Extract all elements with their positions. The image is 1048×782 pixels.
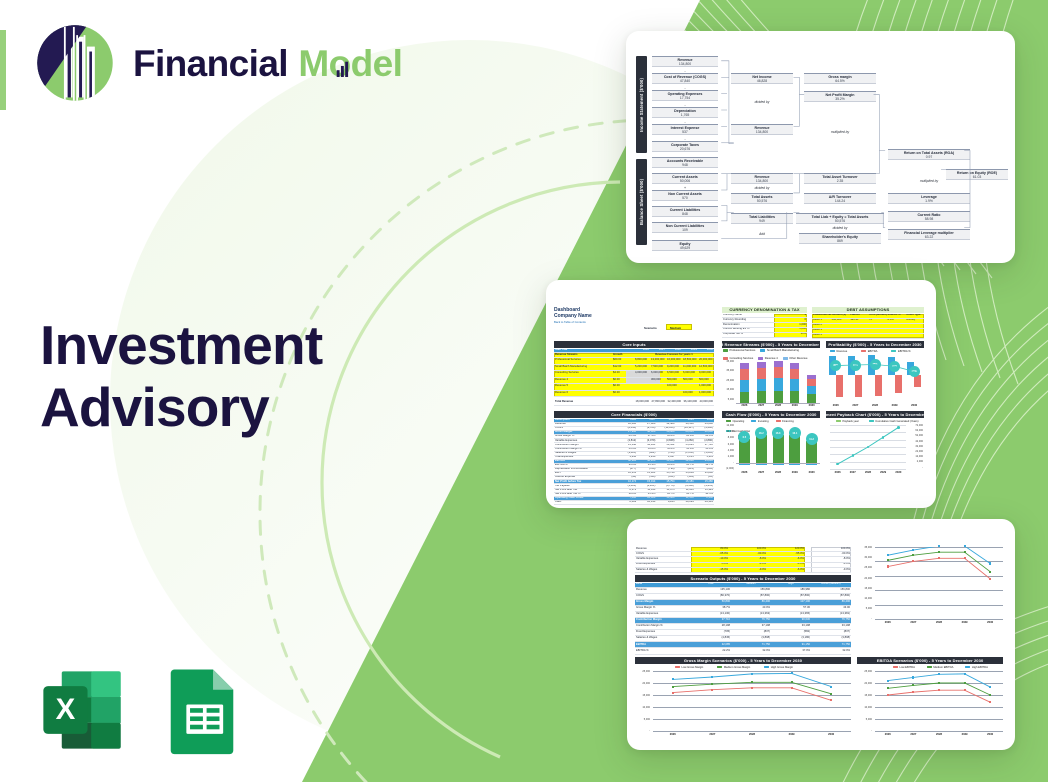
scenario-label: Scenario <box>644 326 657 330</box>
financial-model-logo-icon <box>34 22 116 104</box>
dp-box-total-liab-equity: Total Liab + Equity = Total Assets50,576 <box>796 213 884 224</box>
data-point <box>751 673 753 675</box>
data-point <box>791 681 793 683</box>
dp-box-current-ratio: Current Ratio58.98 <box>888 211 970 222</box>
dp-box-roe: Return on Equity (ROE)61.03 <box>946 169 1008 180</box>
table-row: EBITDA %22.2%32.0%37.0%32.0% <box>635 649 851 655</box>
investing-bar <box>739 463 750 465</box>
stacked-bar <box>774 361 783 403</box>
dp-box-current-assets: Current Assets50,006 <box>652 173 718 184</box>
ebitda-scenarios-legend: Low EBITDA Medium EBITDA High EBITDA <box>893 666 1003 669</box>
dupont-tree: Income Statement ($'000) Balance Sheet (… <box>636 56 1007 245</box>
data-point <box>830 699 832 701</box>
dp-box-cogs: Cost of Revenue (COGS)47,840 <box>652 73 718 84</box>
data-point <box>989 694 991 696</box>
revenue-scenarios-yaxis: 35,00030,00025,00020,00015,00010,0005,00… <box>857 547 872 621</box>
gross-margin-yaxis: 25,00020,00015,00010,0005,000- <box>635 671 650 733</box>
brand-word-model: Model <box>298 45 402 82</box>
dp-box-equity: Equity49,629 <box>652 240 718 251</box>
brand-wordmark: Financial Model <box>133 45 402 82</box>
dp-box-corporate-taxes: Corporate Taxes20,676 <box>652 141 718 152</box>
dashboard-company-name: Company Name <box>554 313 592 319</box>
investing-bar <box>806 463 817 465</box>
dashboard-sheet: Dashboard Company Name Back to Table of … <box>546 280 936 508</box>
dp-box-accounts-receivable: Accounts Receivable948 <box>652 157 718 168</box>
data-point <box>672 686 674 688</box>
revenue-scenarios-plot <box>875 547 1003 619</box>
revenue-streams-plot <box>736 361 820 403</box>
data-point <box>989 578 991 580</box>
data-point <box>964 551 966 553</box>
data-point <box>791 672 793 674</box>
payback-plot <box>830 425 906 469</box>
dashboard-toc-link[interactable]: Back to Table of Contents <box>554 320 586 324</box>
panel-title-currency: CURRENCY DENOMINATION & TAX <box>722 307 807 313</box>
google-sheets-icon[interactable] <box>156 664 248 756</box>
bar-chart-icon <box>335 60 352 77</box>
net-cash-bubble: 16.1 <box>789 427 801 439</box>
data-point <box>887 559 889 561</box>
dp-box-leverage: Leverage1.9% <box>888 193 970 204</box>
table-row: Cash8,48318,1938,26510,09449,191 <box>554 501 714 505</box>
data-point <box>711 683 713 685</box>
core-inputs-title: Core Inputs <box>554 341 714 348</box>
investing-bar <box>756 463 767 465</box>
scenario-assumption-values: 80.0%100.0%120.0%100.0% -65.0%-60.0%-55.… <box>691 547 851 573</box>
scenario-lines <box>875 671 1003 731</box>
svg-text:X: X <box>56 693 76 726</box>
data-point <box>912 560 914 562</box>
investing-bar <box>773 463 784 465</box>
profitability-xaxis: 20262027 20282029 2030 <box>826 404 924 407</box>
data-point <box>912 676 914 678</box>
screenshot-card-scenarios[interactable]: Revenue COGS Variable Expenses Fixed Exp… <box>627 519 1015 750</box>
data-point <box>912 684 914 686</box>
scenario-assumption-labels: Revenue COGS Variable Expenses Fixed Exp… <box>635 547 691 573</box>
data-point <box>887 687 889 689</box>
data-point <box>711 689 713 691</box>
dp-box-financial-leverage-multiplier: Financial Leverage multiplier63.22 <box>888 229 970 240</box>
stacked-bar <box>807 361 816 403</box>
operating-bar <box>756 435 767 463</box>
cash-flow-xaxis: 20262027 20282029 2030 <box>736 471 820 474</box>
ebitda-yaxis: 25,00020,00015,00010,0005,000- <box>857 671 872 733</box>
ebitda-plot <box>875 671 1003 731</box>
payback-legend: Payback year Cumulative Cash Generated (… <box>836 420 924 423</box>
payback-xaxis: 20262027 20282029 2030 <box>830 471 906 474</box>
dp-box-current-liabilities: Current Liabilities848 <box>652 206 718 217</box>
scenario-body: Revenue COGS Variable Expenses Fixed Exp… <box>635 547 1007 736</box>
dp-box-revenue-mid-2: Revenue134,800 <box>731 173 793 184</box>
dp-box-ar-turnover: A/R Turnover144.24 <box>804 193 876 204</box>
ebitda-xaxis: 20262027 20282029 2030 <box>875 733 1003 736</box>
currency-values-grid: $ 0 1,000 1,000 30% <box>774 314 807 338</box>
microsoft-excel-icon[interactable]: X <box>36 664 128 756</box>
ebitda-scenarios-title: EBITDA Scenarios ($'000) - 5 Years to De… <box>857 657 1003 664</box>
panel-title-debt: DEBT ASSUMPTIONS <box>812 307 924 313</box>
data-point <box>672 678 674 680</box>
gross-margin-xaxis: 20262027 20282029 2030 <box>653 733 851 736</box>
data-point <box>711 676 713 678</box>
data-point <box>751 687 753 689</box>
cash-flow-plot: 6.518.216.316.111.2 <box>736 425 820 469</box>
net-cash-bubble: 16.3 <box>772 427 784 439</box>
revenue-scenarios-xaxis: 20262027 20282029 2030 <box>875 621 1003 624</box>
dp-box-net-income: Net Income46,828 <box>731 73 793 84</box>
core-financials-title: Core Financials ($'000) <box>554 411 714 418</box>
data-point <box>964 545 966 547</box>
spine-income-statement: Income Statement ($'000) <box>636 56 647 153</box>
dp-box-roa: Return on Total Assets (ROA)0.97 <box>888 149 970 160</box>
data-point <box>938 673 940 675</box>
spine-balance-sheet: Balance Sheet ($'000) <box>636 159 647 245</box>
brand-logo[interactable]: Financial Model <box>34 22 402 104</box>
net-cash-bubble: 11.2 <box>806 433 818 445</box>
data-point <box>751 681 753 683</box>
dp-box-non-current-liabilities: Non Current Liabilities109 <box>652 222 718 233</box>
dp-box-opex: Operating Expenses17,754 <box>652 90 718 101</box>
data-point <box>887 565 889 567</box>
data-point <box>964 682 966 684</box>
data-point <box>912 549 914 551</box>
data-point <box>830 693 832 695</box>
dashboard-body: Dashboard Company Name Back to Table of … <box>554 307 929 492</box>
data-point <box>887 554 889 556</box>
dp-box-total-liabilities: Total Liabilities949 <box>731 213 793 224</box>
dp-op-divided-2: divided by <box>731 186 793 190</box>
screenshot-card-dupont[interactable]: Income Statement ($'000) Balance Sheet (… <box>626 31 1015 263</box>
dp-box-depreciation: Depreciation1,765 <box>652 107 718 118</box>
data-point <box>912 691 914 693</box>
profitability-legend: Revenue EBITDA EBITDA % <box>830 350 924 353</box>
revenue-streams-title: Top 5 Revenue Streams ($'000) - 5 Years … <box>722 341 820 348</box>
core-inputs-total-row: Total Revenue 18,000,000 27,800,000 32,4… <box>554 400 714 406</box>
data-point <box>887 694 889 696</box>
data-point <box>887 680 889 682</box>
dp-box-revenue-mid: Revenue134,800 <box>731 124 793 135</box>
payback-yaxis: 72,00062,00052,00042,00032,00022,00012,0… <box>908 425 923 469</box>
stacked-bar <box>740 361 749 403</box>
profitability-plot: 35%35%35%36%33% <box>826 355 924 403</box>
data-point <box>989 686 991 688</box>
dp-box-interest-expense: Interest Expense537 <box>652 124 718 135</box>
payback-title: Investment Payback Chart ($'000) - 5 Yea… <box>826 411 924 418</box>
profitability-title: Profitability ($'000) - 5 Years to Decem… <box>826 341 924 348</box>
revenue-streams-legend: Professional Services Small Batch Manufa… <box>723 349 821 360</box>
ebitda-pct-line <box>826 355 924 403</box>
data-point <box>852 454 855 457</box>
currency-rows: Currency Name Currency Rounding Denomina… <box>722 314 774 338</box>
dp-box-gross-margin: Gross margin64.5% <box>804 73 876 84</box>
data-point <box>964 689 966 691</box>
dp-op-add: Add <box>731 232 793 236</box>
gross-margin-scenarios-legend: Low Gross Margin Medium Gross Margin Hig… <box>675 666 851 669</box>
data-point <box>938 689 940 691</box>
data-point <box>938 545 940 547</box>
data-point <box>989 562 991 564</box>
left-content-panel: Financial Model Investment Advisory X <box>0 0 470 782</box>
data-point <box>672 692 674 694</box>
operating-bar <box>773 435 784 463</box>
revenue-streams-xaxis: 20262027 20282029 2030 <box>736 404 820 407</box>
gross-margin-plot <box>653 671 851 731</box>
data-point <box>912 554 914 556</box>
dp-box-non-current-assets: Non Current Assets570 <box>652 190 718 201</box>
investing-bar <box>789 463 800 465</box>
data-point <box>830 686 832 688</box>
dp-op-divided-1: divided by <box>731 100 793 104</box>
headline-line-1: Investment <box>40 314 322 376</box>
dp-box-shareholders-equity: Shareholder's Equity869 <box>799 233 881 244</box>
revenue-streams-yaxis: 45,00035,00025,00015,0005,000 <box>722 361 734 401</box>
data-point <box>938 682 940 684</box>
data-point <box>938 557 940 559</box>
operating-bar <box>789 435 800 463</box>
headline-line-2: Advisory <box>40 376 269 438</box>
stacked-bar <box>790 361 799 403</box>
dp-box-net-profit-margin: Net Profit Margin35.2% <box>804 91 876 102</box>
data-point <box>791 687 793 689</box>
dupont-sheet: Income Statement ($'000) Balance Sheet (… <box>626 31 1015 263</box>
data-point <box>938 551 940 553</box>
cash-flow-title: Cash Flow ($'000) - 5 Years to December … <box>722 411 820 418</box>
data-point <box>964 673 966 675</box>
dp-box-total-asset-turnover: Total Asset Turnover2.35 <box>804 173 876 184</box>
data-point <box>964 557 966 559</box>
screenshot-card-dashboard[interactable]: Dashboard Company Name Back to Table of … <box>546 280 936 508</box>
debt-row-4: Asset 4 <box>812 334 924 339</box>
gross-margin-scenarios-title: Gross Margin Scenarios ($'000) - 5 Years… <box>635 657 851 664</box>
dp-box-revenue: Revenue134,800 <box>652 56 718 67</box>
dp-op-multiplied-1: multiplied by <box>804 130 876 134</box>
scenario-sheet: Revenue COGS Variable Expenses Fixed Exp… <box>627 519 1015 750</box>
data-point <box>989 571 991 573</box>
dp-op-divided-3: divided by <box>804 226 876 230</box>
supported-apps: X <box>36 664 248 756</box>
brand-word-financial: Financial <box>133 45 288 82</box>
page-title: Investment Advisory <box>40 315 322 438</box>
stacked-bar <box>757 361 766 403</box>
core-inputs-row-6: Revenue 6$0.00 100,000 1,000,000 <box>554 391 714 398</box>
dp-box-total-assets: Total Assets50,576 <box>731 193 793 204</box>
data-point <box>897 426 900 429</box>
scenario-lines <box>653 671 851 731</box>
data-point <box>989 701 991 703</box>
scenario-outputs-title: Scenario Outputs ($'000) - 5 Years to De… <box>635 575 851 582</box>
cash-flow-yaxis: 12,00010,0008,0006,0004,0002,000-(2,000) <box>722 425 734 471</box>
scenario-value: Medium <box>670 326 681 330</box>
